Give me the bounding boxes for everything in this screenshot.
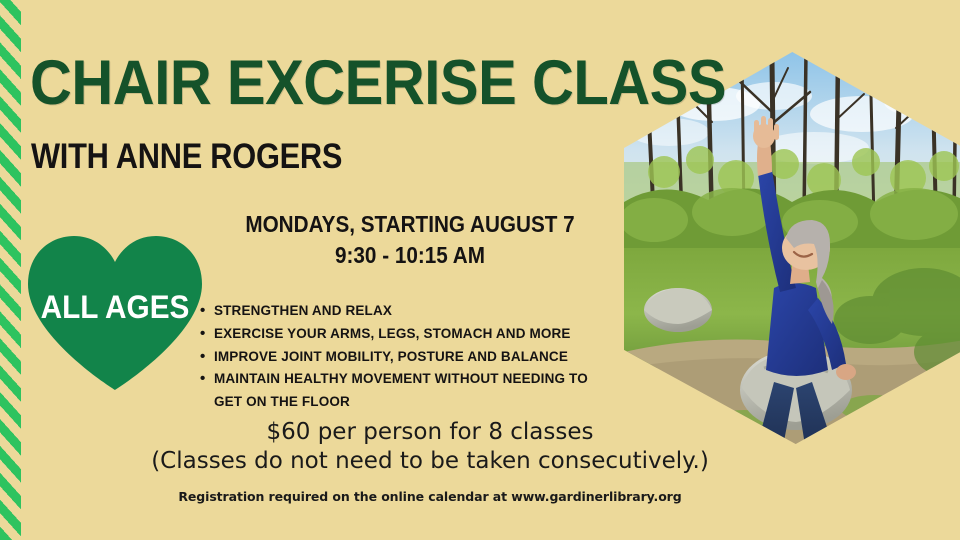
page-subtitle: WITH ANNE ROGERS [31, 139, 342, 174]
list-item: • MAINTAIN HEALTHY MOVEMENT WITHOUT NEED… [200, 368, 650, 391]
poster-canvas: CHAIR EXCERISE CLASS WITH ANNE ROGERS AL… [0, 0, 960, 540]
schedule-day: MONDAYS, STARTING AUGUST 7 [212, 209, 608, 240]
bullet-dot-icon: • [200, 346, 214, 369]
diagonal-stripe-border [0, 0, 21, 540]
list-item: • IMPROVE JOINT MOBILITY, POSTURE AND BA… [200, 346, 650, 369]
list-item: • STRENGTHEN AND RELAX [200, 300, 650, 323]
all-ages-badge: ALL AGES [22, 232, 208, 394]
all-ages-label: ALL AGES [29, 232, 202, 394]
bullet-dot-icon: • [200, 300, 214, 323]
list-item-label: MAINTAIN HEALTHY MOVEMENT WITHOUT NEEDIN… [214, 368, 650, 390]
price-primary: $60 per person for 8 classes [120, 418, 740, 447]
price-block: $60 per person for 8 classes (Classes do… [120, 418, 740, 476]
schedule-time: 9:30 - 10:15 AM [212, 240, 608, 271]
registration-note: Registration required on the online cale… [120, 489, 740, 504]
benefits-list: • STRENGTHEN AND RELAX • EXERCISE YOUR A… [200, 300, 650, 413]
bullet-dot-icon: • [200, 368, 214, 391]
schedule-block: MONDAYS, STARTING AUGUST 7 9:30 - 10:15 … [212, 209, 608, 270]
price-note: (Classes do not need to be taken consecu… [120, 447, 740, 476]
list-item-label: EXERCISE YOUR ARMS, LEGS, STOMACH AND MO… [214, 323, 650, 345]
bullet-dot-icon: • [200, 323, 214, 346]
page-title: CHAIR EXCERISE CLASS [30, 54, 600, 114]
list-item-label: IMPROVE JOINT MOBILITY, POSTURE AND BALA… [214, 346, 650, 368]
list-item-label-continuation: GET ON THE FLOOR [200, 391, 650, 413]
list-item: • EXERCISE YOUR ARMS, LEGS, STOMACH AND … [200, 323, 650, 346]
list-item-label: STRENGTHEN AND RELAX [214, 300, 650, 322]
